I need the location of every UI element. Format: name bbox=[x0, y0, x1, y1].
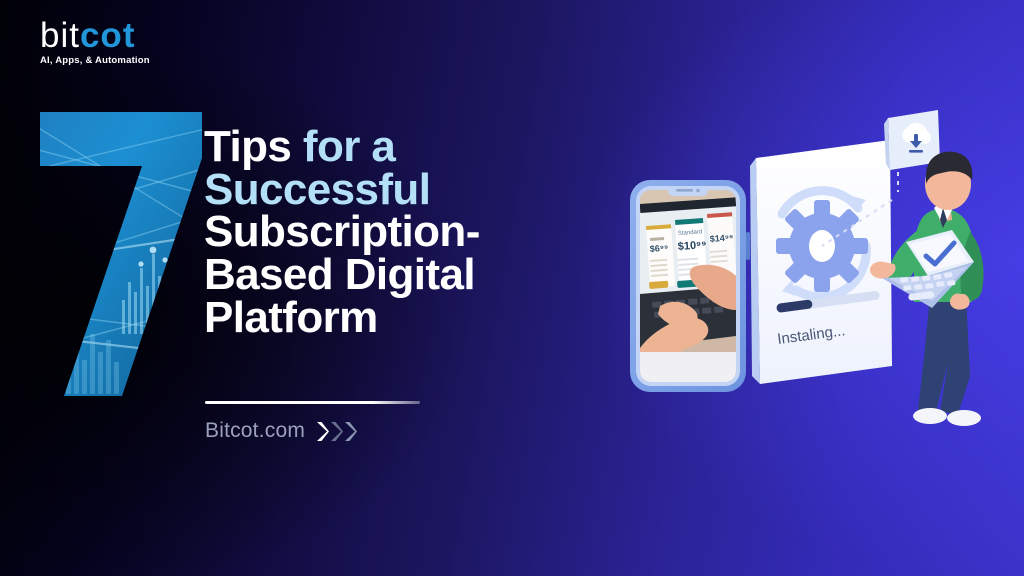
headline-seg-tips: Tips bbox=[204, 122, 303, 171]
hero-illustration: Instaling... bbox=[600, 96, 1024, 426]
bitcot-logo[interactable]: bitcot AI, Apps, & Automation bbox=[40, 18, 150, 66]
headline-line-3: Subscription- bbox=[204, 211, 634, 254]
chevron-right-icon bbox=[316, 421, 329, 442]
headline-line-1: Tips for a bbox=[204, 126, 634, 169]
headline-line-5: Platform bbox=[204, 297, 634, 340]
shoe-right bbox=[947, 410, 981, 426]
headline: Tips for a Successful Subscription- Base… bbox=[204, 126, 634, 339]
headline-seg-for-a: for a bbox=[303, 122, 395, 171]
phone-mockup: $6⁹⁹ Standard $10⁹⁹ bbox=[630, 180, 750, 392]
website-url[interactable]: Bitcot.com bbox=[205, 419, 305, 443]
install-card: Instaling... bbox=[750, 140, 892, 384]
headline-divider bbox=[205, 401, 420, 404]
headline-seg-subscription: Subscription- bbox=[204, 207, 480, 256]
shoe-left bbox=[913, 408, 947, 424]
svg-text:$10⁹⁹: $10⁹⁹ bbox=[677, 239, 707, 253]
svg-text:$6⁹⁹: $6⁹⁹ bbox=[649, 243, 668, 254]
logo-tagline: AI, Apps, & Automation bbox=[40, 55, 150, 66]
headline-line-2: Successful bbox=[204, 169, 634, 212]
footer-url-row[interactable]: Bitcot.com bbox=[205, 419, 357, 443]
headline-line-4: Based Digital bbox=[204, 254, 634, 297]
phone-screen-pricing: $6⁹⁹ Standard $10⁹⁹ bbox=[640, 190, 737, 382]
headline-seg-successful: Successful bbox=[204, 165, 430, 214]
headline-seg-based-digital: Based Digital bbox=[204, 250, 475, 299]
phone-side-button bbox=[746, 232, 750, 260]
chevron-right-icon bbox=[344, 421, 357, 442]
big-number-seven bbox=[26, 104, 216, 404]
chevron-right-icon bbox=[330, 421, 343, 442]
hand-right bbox=[950, 293, 970, 309]
svg-text:$14⁹⁹: $14⁹⁹ bbox=[709, 232, 733, 244]
promo-banner: bitcot AI, Apps, & Automation bbox=[0, 0, 1024, 576]
headline-seg-platform: Platform bbox=[204, 293, 378, 342]
phone-notch bbox=[668, 186, 708, 196]
logo-wordmark: bitcot bbox=[40, 18, 150, 53]
logo-text-cot: cot bbox=[80, 16, 136, 55]
pricing-card-basic: $6⁹⁹ bbox=[646, 224, 675, 289]
chevron-group bbox=[316, 421, 357, 442]
logo-text-bit: bit bbox=[40, 16, 80, 55]
